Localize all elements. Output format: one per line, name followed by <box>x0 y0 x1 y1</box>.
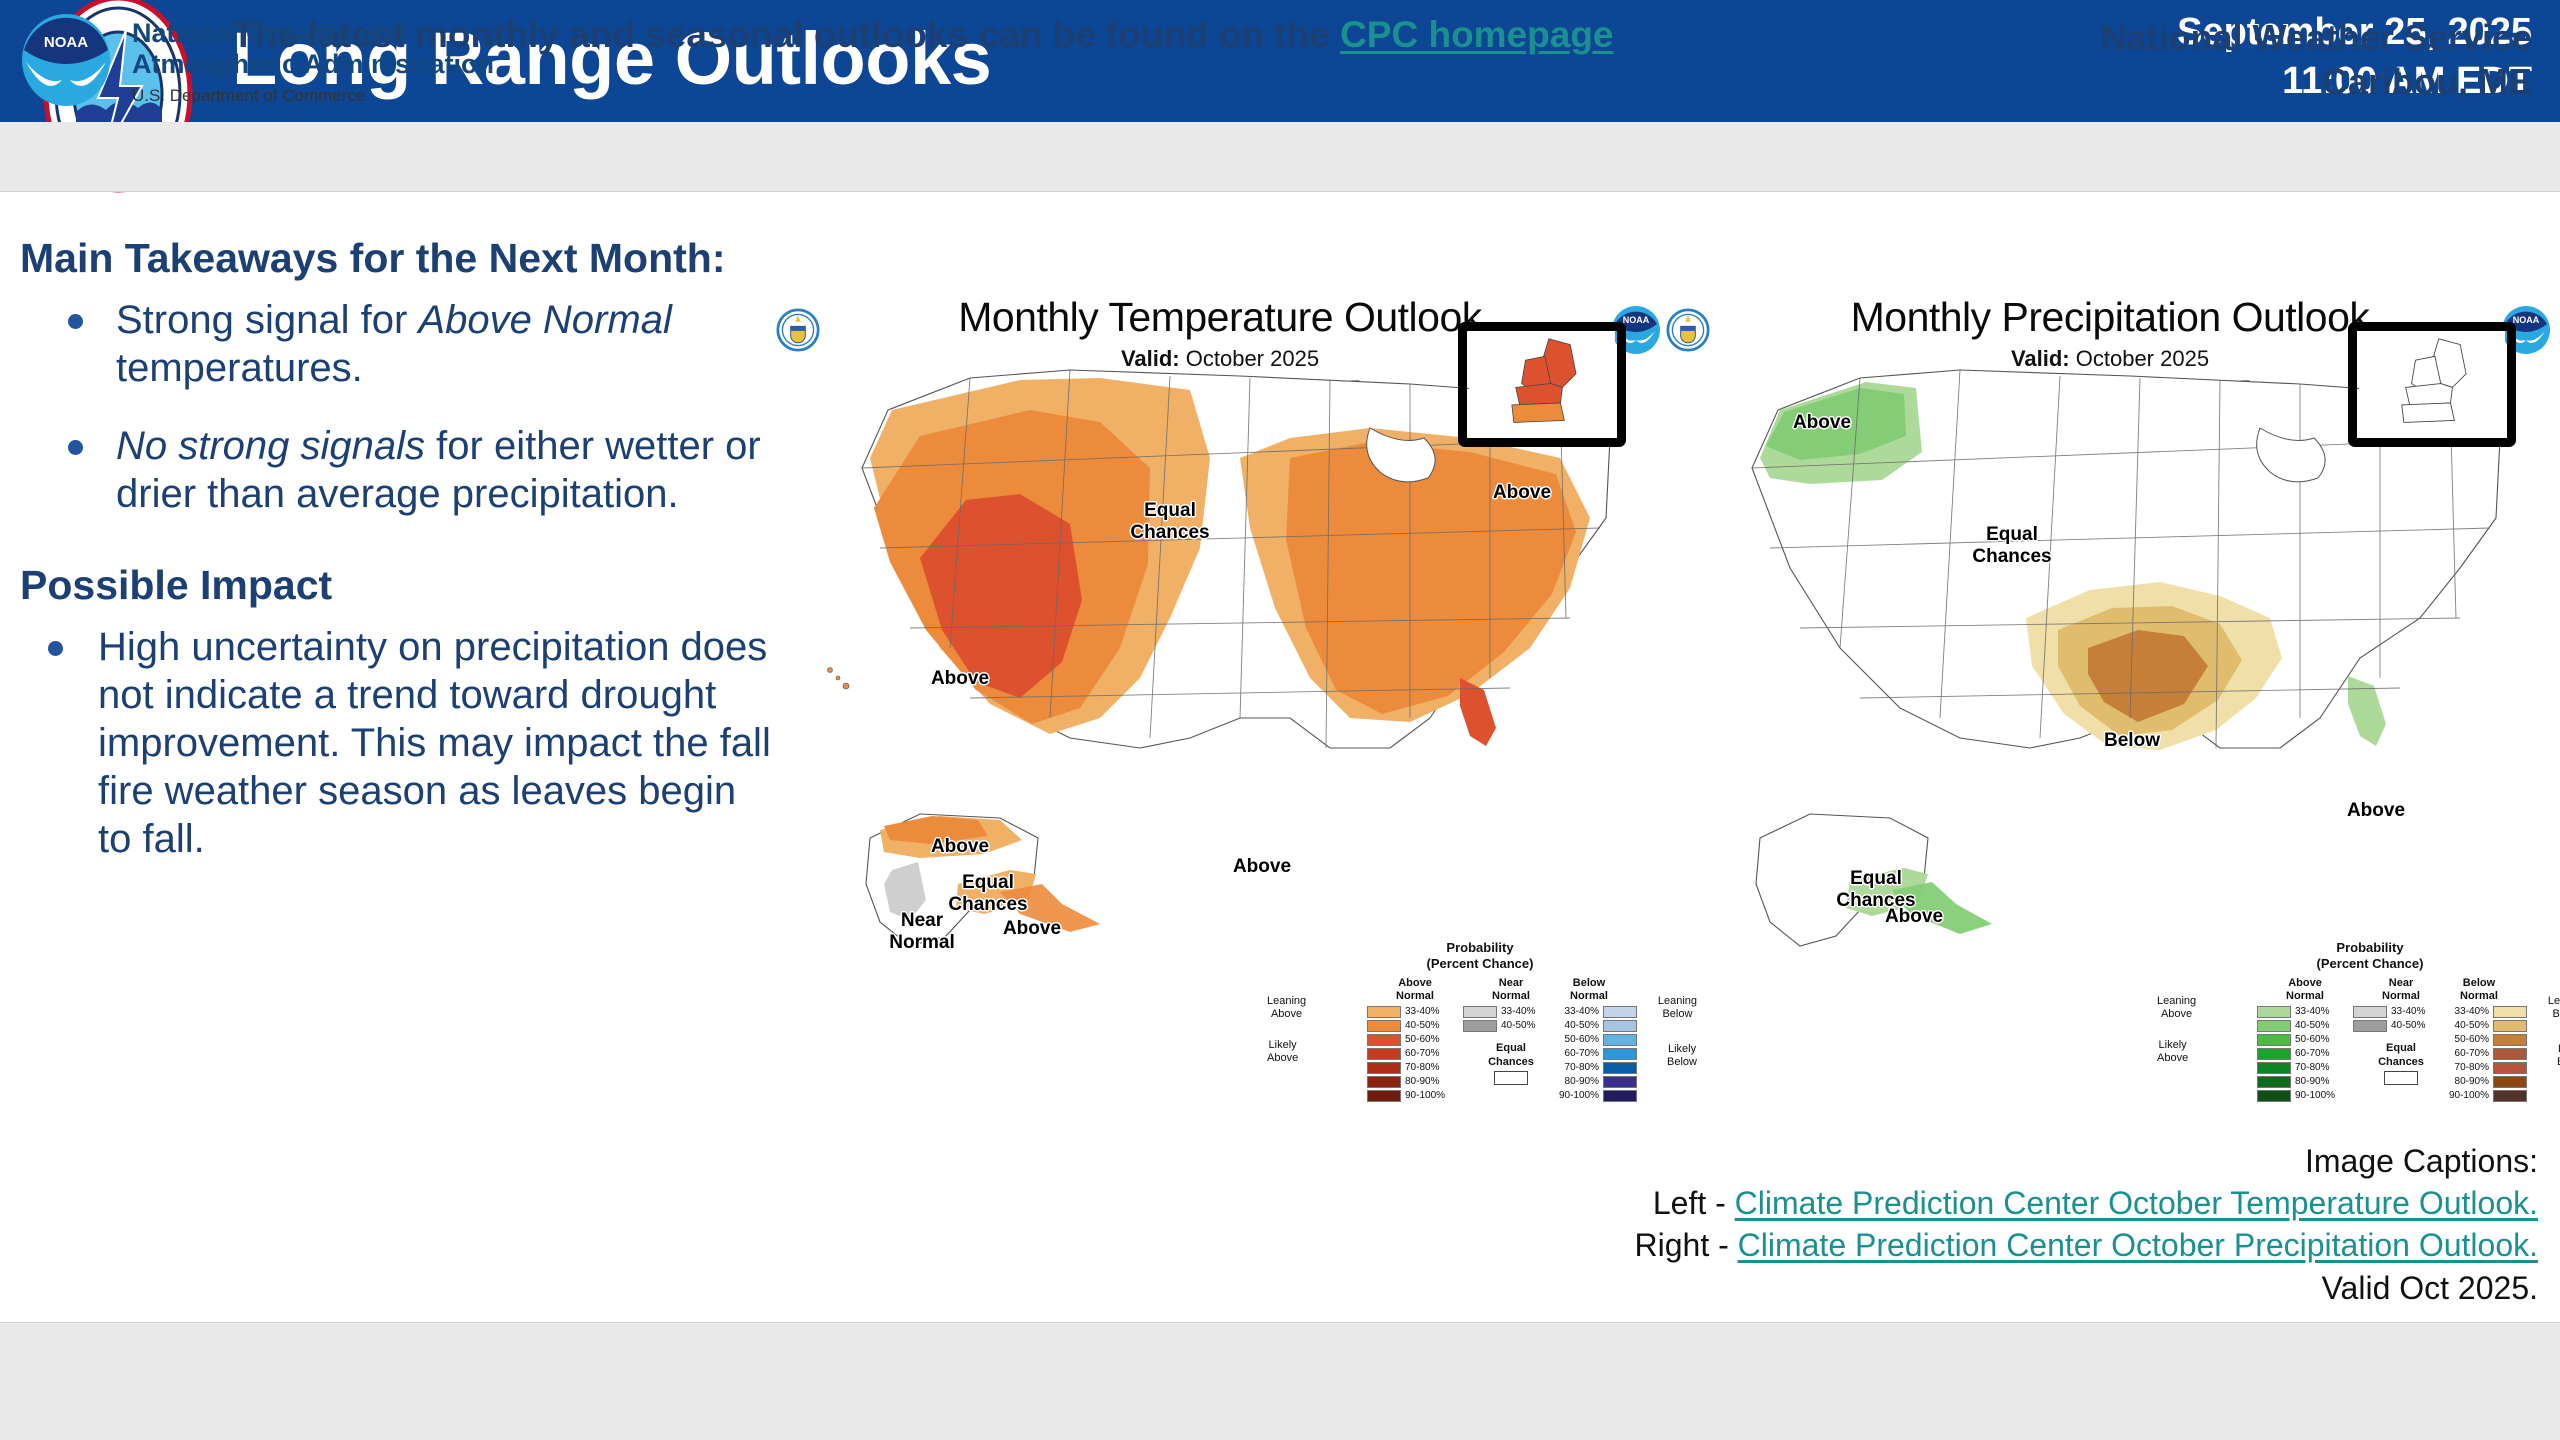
legend-row: 60-70% <box>2431 1047 2527 1060</box>
legend-range-label: 90-100% <box>1555 1090 1603 1101</box>
cpc-homepage-link[interactable]: CPC homepage <box>1340 14 1613 55</box>
legend-swatch <box>2493 1020 2527 1032</box>
legend-swatch <box>1603 1048 1637 1060</box>
legend-range-label: 40-50% <box>1401 1020 1443 1031</box>
captions-heading: Image Captions: <box>1338 1140 2538 1182</box>
legend-col-above-normal: AboveNormal 33-40%40-50%50-60%60-70%70-8… <box>1367 977 1463 1103</box>
legend-row: 90-100% <box>1367 1089 1463 1102</box>
legend-above-swatches: 33-40%40-50%50-60%60-70%70-80%80-90%90-1… <box>1367 1005 1463 1102</box>
legend-swatch <box>2257 1048 2291 1060</box>
map-label-above-alaska-north: Above <box>920 836 1000 858</box>
legend-swatch <box>2493 1090 2527 1102</box>
legend-row: 33-40% <box>2257 1005 2353 1018</box>
slide-root: Long Range Outlooks September 25, 2025 1… <box>0 0 2560 1440</box>
legend-row: 50-60% <box>1367 1033 1463 1046</box>
nws-office-label: National Weather Service Caribou, ME <box>2100 16 2532 104</box>
legend-row: 33-40% <box>1367 1005 1463 1018</box>
legend-range-label: 50-60% <box>1561 1034 1603 1045</box>
map-label-equal-chances: EqualChances <box>1972 524 2052 568</box>
legend-above-swatches: 33-40%40-50%50-60%60-70%70-80%80-90%90-1… <box>2257 1005 2353 1102</box>
takeaway-emphasis: No strong signals <box>116 424 425 468</box>
legend-title-line1: Probability <box>2205 940 2535 956</box>
legend-row: 70-80% <box>2257 1061 2353 1074</box>
new-england-inset-graphic <box>2357 331 2507 438</box>
legend-row: 80-90% <box>2257 1075 2353 1088</box>
legend-swatch <box>1367 1062 1401 1074</box>
legend-below-swatches: 33-40%40-50%50-60%60-70%70-80%80-90%90-1… <box>2431 1005 2527 1102</box>
takeaway-pre: Strong signal for <box>116 298 418 342</box>
legend-title: Probability (Percent Chance) <box>1315 940 1645 971</box>
legend-range-label: 33-40% <box>2451 1006 2493 1017</box>
legend-col-below-normal: BelowNormal 33-40%40-50%50-60%60-70%70-8… <box>2431 977 2527 1103</box>
legend-above-head: AboveNormal <box>1367 977 1463 1002</box>
legend-swatch <box>2353 1006 2387 1018</box>
impact-heading: Possible Impact <box>20 562 780 609</box>
legend-swatch <box>2493 1076 2527 1088</box>
legend-range-label: 60-70% <box>1561 1048 1603 1059</box>
legend-likely-above-label: LikelyAbove <box>2157 1039 2188 1064</box>
precipitation-outlook-map: NOAA Monthly Precipitation Outlook Valid… <box>1660 300 2560 1130</box>
legend-range-label: 80-90% <box>1401 1076 1443 1087</box>
legend-swatch <box>1367 1020 1401 1032</box>
legend-range-label: 60-70% <box>2291 1048 2333 1059</box>
legend-row: 80-90% <box>2431 1075 2527 1088</box>
legend-row: 60-70% <box>2257 1047 2353 1060</box>
legend-swatch <box>1603 1020 1637 1032</box>
legend-leaning-above-label: LeaningAbove <box>1267 995 1306 1020</box>
map-label-above-pacific-northwest: Above <box>1782 412 1862 434</box>
temperature-outlook-map: NOAA Monthly Temperature Outlook Valid: … <box>770 300 1670 1130</box>
impact-item: High uncertainty on precipitation does n… <box>20 623 780 863</box>
legend-swatch <box>1367 1034 1401 1046</box>
map-label-above-alaska: Above <box>1874 906 1954 928</box>
legend-equal-chances-swatch <box>1494 1071 1528 1085</box>
legend-col-above-normal: AboveNormal 33-40%40-50%50-60%60-70%70-8… <box>2257 977 2353 1103</box>
caption-valid-note: Valid Oct 2025. <box>1338 1267 2538 1309</box>
legend-below-head: BelowNormal <box>2431 977 2527 1002</box>
caption-right-prefix: Right - <box>1635 1227 1738 1263</box>
legend-range-label: 33-40% <box>1497 1006 1539 1017</box>
svg-text:NOAA: NOAA <box>44 34 88 51</box>
legend-swatch <box>1603 1090 1637 1102</box>
legend-swatch <box>1367 1090 1401 1102</box>
legend-swatch <box>1367 1006 1401 1018</box>
legend-row: 70-80% <box>1541 1061 1637 1074</box>
legend-row: 50-60% <box>2431 1033 2527 1046</box>
legend-range-label: 40-50% <box>2291 1020 2333 1031</box>
legend-swatch <box>2257 1034 2291 1046</box>
legend-row: 80-90% <box>1541 1075 1637 1088</box>
legend-columns: LeaningAbove LikelyAbove LeaningBelow Li… <box>2205 977 2535 1109</box>
legend-row: 50-60% <box>2257 1033 2353 1046</box>
legend-row: 70-80% <box>2431 1061 2527 1074</box>
legend-row: 50-60% <box>1541 1033 1637 1046</box>
caption-right-link[interactable]: Climate Prediction Center October Precip… <box>1738 1227 2538 1263</box>
legend-below-head: BelowNormal <box>1541 977 1637 1002</box>
legend-title-line2: (Percent Chance) <box>1315 956 1645 972</box>
legend-col-below-normal: BelowNormal 33-40%40-50%50-60%60-70%70-8… <box>1541 977 1637 1103</box>
legend-range-label: 40-50% <box>2451 1020 2493 1031</box>
takeaway-emphasis: Above Normal <box>418 298 671 342</box>
legend-range-label: 60-70% <box>2451 1048 2493 1059</box>
legend-title-line2: (Percent Chance) <box>2205 956 2535 972</box>
office-line-2: Caribou, ME <box>2100 60 2532 104</box>
legend-row: 90-100% <box>2257 1089 2353 1102</box>
legend-title-line1: Probability <box>1315 940 1645 956</box>
legend-range-label: 90-100% <box>2445 1090 2493 1101</box>
legend-range-label: 33-40% <box>1561 1006 1603 1017</box>
legend-row: 90-100% <box>1541 1089 1637 1102</box>
legend-range-label: 70-80% <box>2451 1062 2493 1073</box>
legend-range-label: 50-60% <box>2291 1034 2333 1045</box>
legend-range-label: 70-80% <box>2291 1062 2333 1073</box>
legend-range-label: 60-70% <box>1401 1048 1443 1059</box>
legend-swatch <box>2353 1020 2387 1032</box>
caption-left: Left - Climate Prediction Center October… <box>1338 1182 2538 1224</box>
legend-swatch <box>2257 1020 2291 1032</box>
legend-below-swatches: 33-40%40-50%50-60%60-70%70-80%80-90%90-1… <box>1541 1005 1637 1102</box>
legend-range-label: 50-60% <box>1401 1034 1443 1045</box>
legend-swatch <box>1367 1048 1401 1060</box>
legend-swatch <box>2493 1062 2527 1074</box>
legend-equal-chances-swatch <box>2384 1071 2418 1085</box>
legend-row: 70-80% <box>1367 1061 1463 1074</box>
agency-line-1: National Oceanic and <box>132 18 494 49</box>
map-label-equal-chances: EqualChances <box>1130 500 1210 544</box>
legend-range-label: 70-80% <box>1401 1062 1443 1073</box>
noaa-agency-text: National Oceanic and Atmospheric Adminis… <box>132 18 494 106</box>
legend-row: 33-40% <box>2431 1005 2527 1018</box>
legend-swatch <box>2493 1048 2527 1060</box>
map-label-above-west: Above <box>920 668 1000 690</box>
legend-swatch <box>2257 1062 2291 1074</box>
legend-swatch <box>2493 1006 2527 1018</box>
takeaway-post: temperatures. <box>116 346 363 390</box>
impact-list: High uncertainty on precipitation does n… <box>20 623 780 863</box>
image-captions: Image Captions: Left - Climate Predictio… <box>1338 1140 2538 1309</box>
legend-leaning-below-label: LeaningBelow <box>2548 995 2560 1020</box>
legend-leaning-above-label: LeaningAbove <box>2157 995 2196 1020</box>
new-england-inset-box <box>2348 322 2516 447</box>
legend-row: 40-50% <box>2257 1019 2353 1032</box>
legend-row: 40-50% <box>1541 1019 1637 1032</box>
legend-range-label: 70-80% <box>1561 1062 1603 1073</box>
takeaways-heading: Main Takeaways for the Next Month: <box>20 236 780 282</box>
legend-row: 60-70% <box>1541 1047 1637 1060</box>
legend-range-label: 40-50% <box>2387 1020 2429 1031</box>
legend-range-label: 50-60% <box>2451 1034 2493 1045</box>
legend-columns: LeaningAbove LikelyAbove LeaningBelow Li… <box>1315 977 1645 1109</box>
legend-range-label: 33-40% <box>1401 1006 1443 1017</box>
legend-swatch <box>2493 1034 2527 1046</box>
map-label-above-northeast: Above <box>1482 482 1562 504</box>
legend-range-label: 40-50% <box>1561 1020 1603 1031</box>
caption-right: Right - Climate Prediction Center Octobe… <box>1338 1224 2538 1266</box>
takeaway-item: No strong signals for either wetter or d… <box>20 422 780 518</box>
legend-swatch <box>1603 1034 1637 1046</box>
legend-row: 80-90% <box>1367 1075 1463 1088</box>
takeaways-list: Strong signal for Above Normal temperatu… <box>20 296 780 518</box>
legend-above-head: AboveNormal <box>2257 977 2353 1002</box>
legend-swatch <box>1463 1020 1497 1032</box>
legend-likely-above-label: LikelyAbove <box>1267 1039 1298 1064</box>
noaa-logo-icon: NOAA <box>18 12 114 108</box>
map-label-above-florida: Above <box>2336 800 2416 822</box>
subtitle-bar <box>0 122 2560 192</box>
legend-swatch <box>2257 1090 2291 1102</box>
legend-swatch <box>2257 1076 2291 1088</box>
legend-range-label: 80-90% <box>2291 1076 2333 1087</box>
legend-swatch <box>1603 1062 1637 1074</box>
legend-row: 33-40% <box>1541 1005 1637 1018</box>
precipitation-probability-legend: Probability (Percent Chance) LeaningAbov… <box>2205 940 2535 1109</box>
map-label-near-normal-alaska: NearNormal <box>882 910 962 954</box>
legend-swatch <box>1463 1006 1497 1018</box>
new-england-inset-box <box>1458 322 1626 447</box>
legend-row: 40-50% <box>1367 1019 1463 1032</box>
takeaway-item: Strong signal for Above Normal temperatu… <box>20 296 780 392</box>
agency-line-2: Atmospheric Administration <box>132 49 494 80</box>
legend-title: Probability (Percent Chance) <box>2205 940 2535 971</box>
new-england-inset-graphic <box>1467 331 1617 438</box>
office-line-1: National Weather Service <box>2100 16 2532 60</box>
map-label-below-plains: Below <box>2092 730 2172 752</box>
legend-range-label: 33-40% <box>2291 1006 2333 1017</box>
legend-row: 40-50% <box>2431 1019 2527 1032</box>
legend-swatch <box>1603 1006 1637 1018</box>
map-label-above-alaska-south: Above <box>992 918 1072 940</box>
map-label-above-florida: Above <box>1222 856 1302 878</box>
legend-range-label: 33-40% <box>2387 1006 2429 1017</box>
agency-line-3: U.S. Department of Commerce <box>132 86 494 106</box>
caption-left-prefix: Left - <box>1653 1185 1735 1221</box>
caption-left-link[interactable]: Climate Prediction Center October Temper… <box>1735 1185 2538 1221</box>
legend-swatch <box>2257 1006 2291 1018</box>
legend-range-label: 90-100% <box>2291 1090 2339 1101</box>
temperature-probability-legend: Probability (Percent Chance) LeaningAbov… <box>1315 940 1645 1109</box>
legend-range-label: 80-90% <box>1561 1076 1603 1087</box>
legend-row: 60-70% <box>1367 1047 1463 1060</box>
footer-bar <box>0 1322 2560 1440</box>
legend-range-label: 40-50% <box>1497 1020 1539 1031</box>
legend-swatch <box>1603 1076 1637 1088</box>
legend-range-label: 80-90% <box>2451 1076 2493 1087</box>
legend-swatch <box>1367 1076 1401 1088</box>
legend-range-label: 90-100% <box>1401 1090 1449 1101</box>
takeaways-panel: Main Takeaways for the Next Month: Stron… <box>20 236 780 863</box>
legend-row: 90-100% <box>2431 1089 2527 1102</box>
